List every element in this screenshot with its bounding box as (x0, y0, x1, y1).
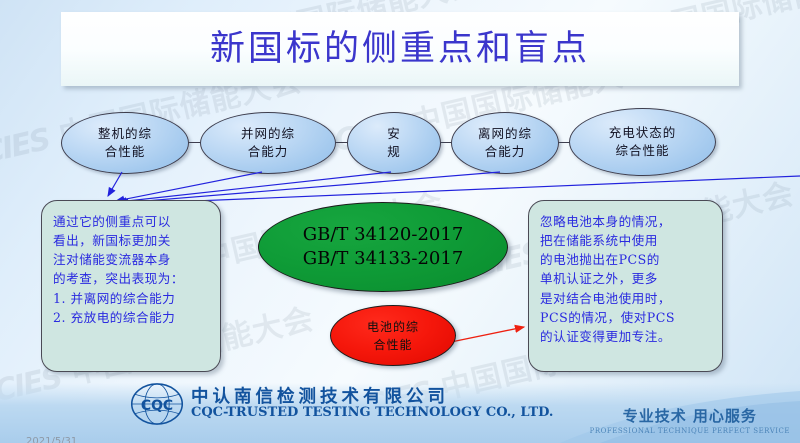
svg-text:CQC: CQC (141, 398, 173, 414)
page-title: 新国标的侧重点和盲点 (210, 32, 590, 67)
topic-ellipse-safety[interactable]: 安 规 (347, 112, 441, 174)
arrow-from-topic-1 (108, 172, 122, 196)
standard-code-1: GB/T 34120-2017 (303, 223, 464, 247)
arrow-battery-to-right-box (451, 327, 524, 342)
topic-label-line1: 整机的综 (98, 125, 152, 143)
topic-label-line2: 综合性能 (609, 142, 677, 160)
right-box-line: 单机认证之外，更多 (540, 269, 715, 288)
left-box-line: 看出，新国标更加关 (53, 231, 211, 250)
arrow-from-topic-3 (118, 172, 391, 202)
slogan-group: 专业技术 用心服务 PROFESSIONAL TECHNIQUE PERFECT… (590, 405, 790, 435)
battery-performance-ellipse[interactable]: 电池的综 合性能 (330, 305, 456, 366)
topic-label-line2: 规 (387, 143, 401, 161)
battery-label-line1: 电池的综 (367, 318, 419, 336)
topic-label-line2: 合能力 (478, 143, 532, 161)
right-box-line: 是对结合电池使用时， (540, 289, 715, 308)
standards-ellipse[interactable]: GB/T 34120-2017 GB/T 34133-2017 (258, 202, 508, 292)
cqc-globe-icon: CQC (130, 382, 184, 426)
right-box-line: 的电池抛出在PCS的 (540, 250, 715, 269)
date-stamp: 2021/5/31 (26, 436, 77, 443)
slide-title-box: 新国标的侧重点和盲点 (61, 12, 739, 86)
slogan-cn: 专业技术 用心服务 (590, 405, 790, 426)
watermark-cies: CIES (0, 122, 52, 171)
arrow-from-topic-4 (120, 172, 500, 203)
right-box-line: 把在储能系统中使用 (540, 231, 715, 250)
topic-ellipse-whole-machine[interactable]: 整机的综 合性能 (61, 112, 189, 174)
topic-label-line1: 充电状态的 (609, 124, 677, 142)
right-blindspot-box: 忽略电池本身的情况， 把在储能系统中使用 的电池抛出在PCS的 单机认证之外，更… (528, 200, 723, 372)
left-box-line: 2. 充放电的综合能力 (53, 308, 211, 327)
topic-ellipse-grid-connected[interactable]: 并网的综 合能力 (200, 112, 336, 174)
topic-label-line1: 安 (387, 125, 401, 143)
right-box-line: PCS的情况，使对PCS (540, 308, 715, 327)
slogan-en: PROFESSIONAL TECHNIQUE PERFECT SERVICE (590, 427, 790, 435)
left-box-line: 的考查，突出表现为： (53, 269, 211, 288)
topic-label-line1: 离网的综 (478, 125, 532, 143)
topic-label-line1: 并网的综 (241, 125, 295, 143)
right-box-line: 忽略电池本身的情况， (540, 212, 715, 231)
left-box-line: 注对储能变流器本身 (53, 250, 211, 269)
slide-canvas: CIES 中国国际储能大会 CIES 中国国际储能大会 CIES 中国国际储能大… (0, 0, 800, 443)
left-box-line: 1. 并离网的综合能力 (53, 289, 211, 308)
left-box-line: 通过它的侧重点可以 (53, 212, 211, 231)
right-box-line: 的认证变得更加专注。 (540, 327, 715, 346)
standard-code-2: GB/T 34133-2017 (303, 247, 464, 271)
left-conclusion-box: 通过它的侧重点可以 看出，新国标更加关 注对储能变流器本身 的考查，突出表现为：… (41, 200, 221, 372)
company-name-en: CQC-TRUSTED TESTING TECHNOLOGY CO., LTD. (191, 406, 553, 420)
topic-ellipse-off-grid[interactable]: 离网的综 合能力 (451, 112, 559, 174)
topic-label-line2: 合性能 (98, 143, 152, 161)
topic-ellipse-charging-state[interactable]: 充电状态的 综合性能 (569, 108, 716, 176)
topic-label-line2: 合能力 (241, 143, 295, 161)
battery-label-line2: 合性能 (367, 336, 419, 354)
company-logo-group: CQC 中认南信检测技术有限公司 CQC-TRUSTED TESTING TEC… (130, 382, 553, 426)
company-name-cn: 中认南信检测技术有限公司 (191, 388, 553, 406)
arrow-from-topic-2 (116, 172, 262, 201)
